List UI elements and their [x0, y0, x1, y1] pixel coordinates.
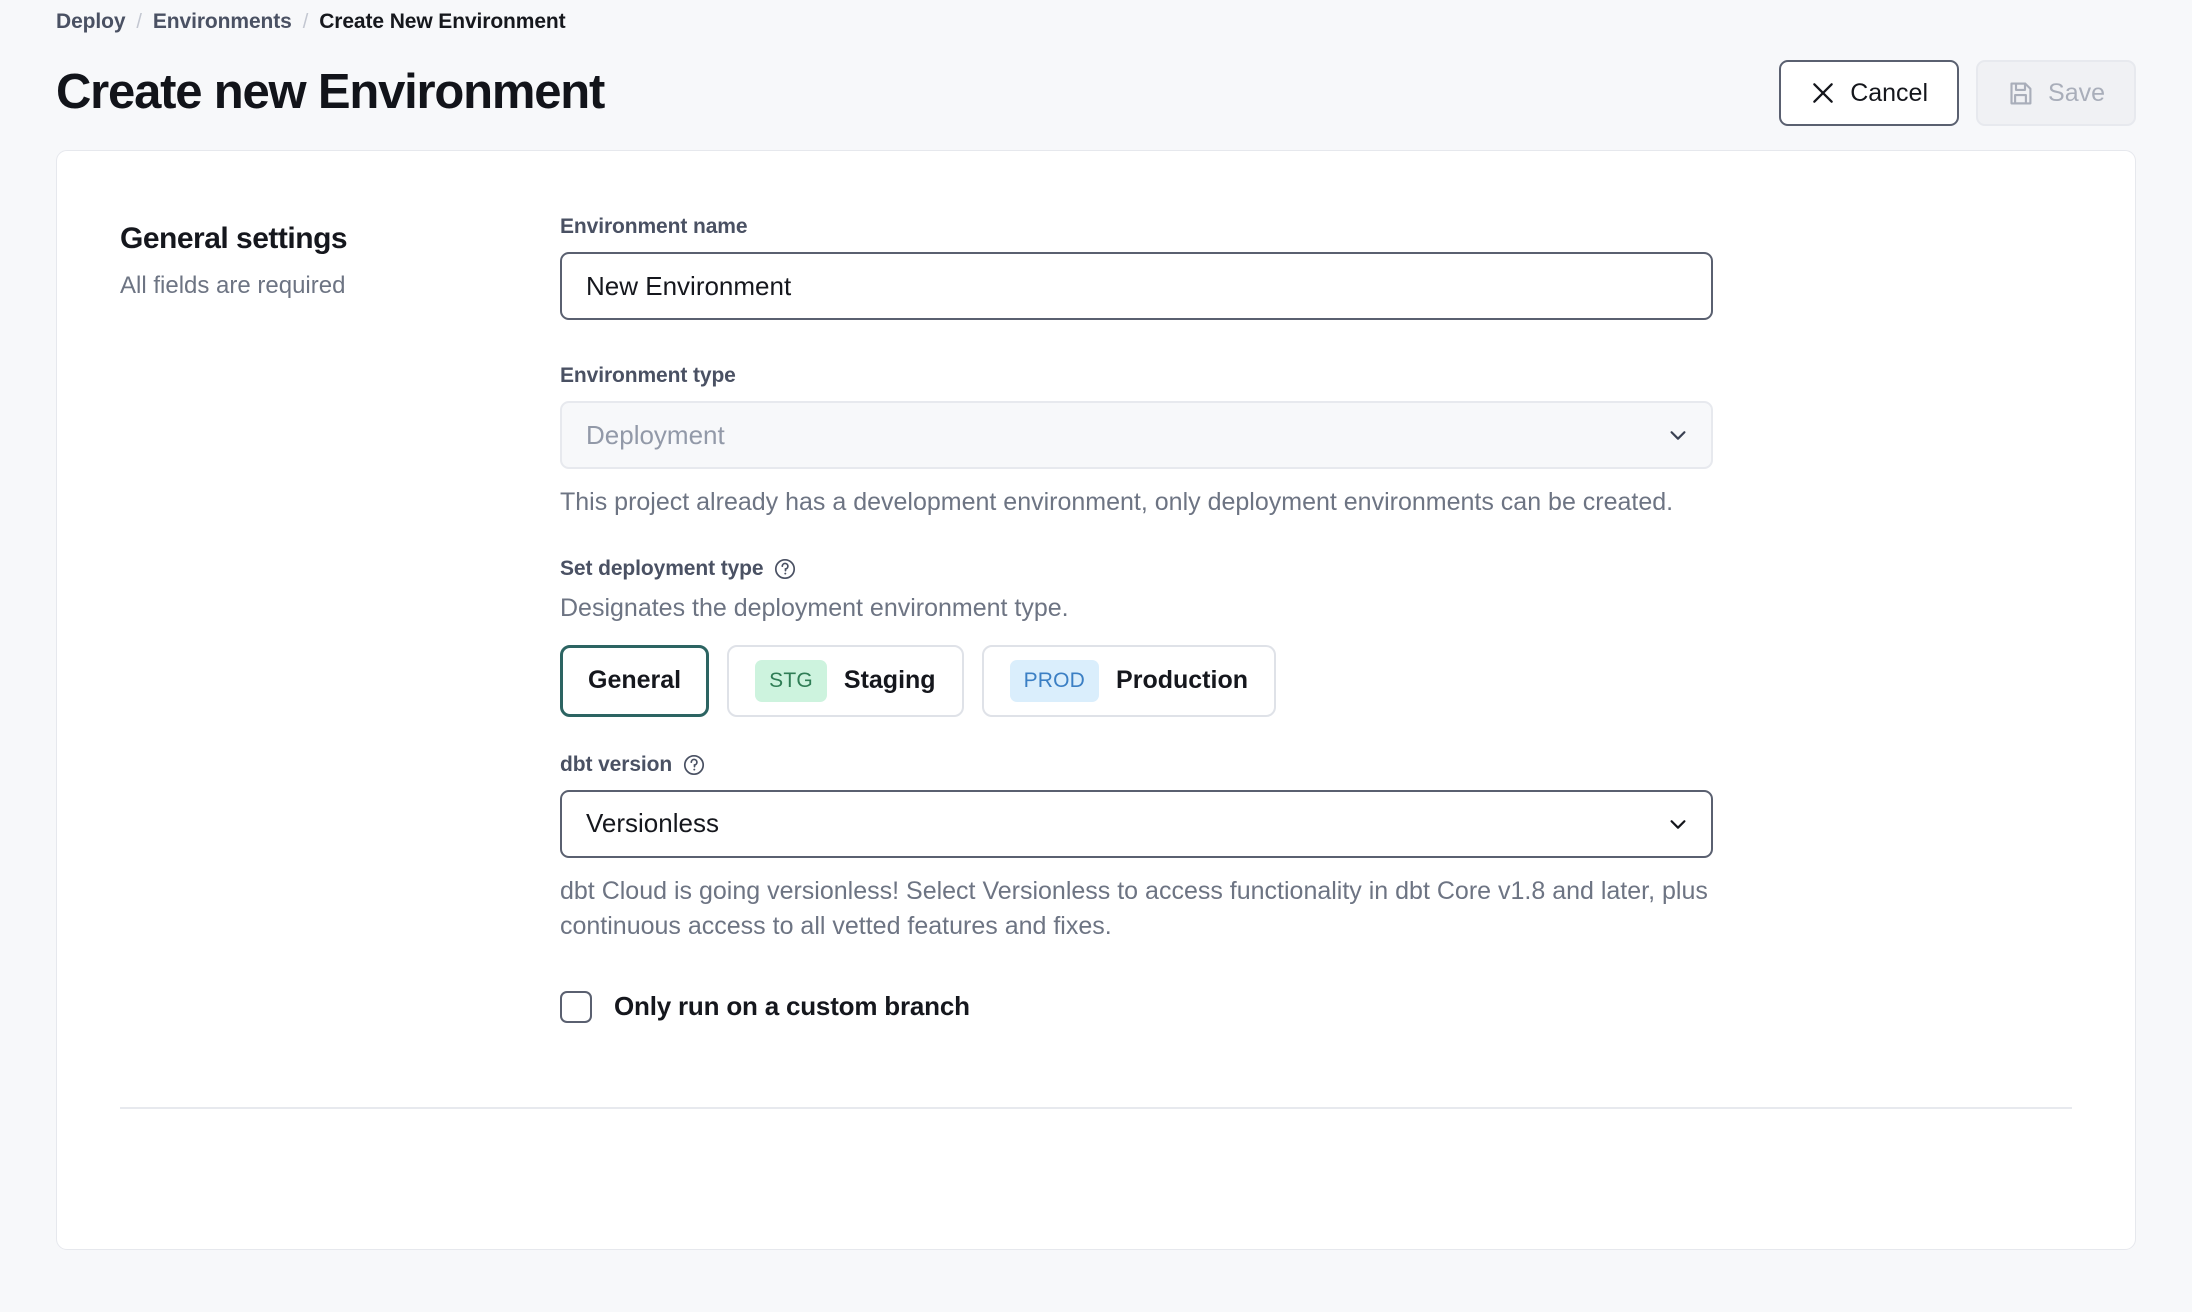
deployment-type-options: General STG Staging PROD Production — [560, 645, 1713, 717]
deployment-type-option-staging-label: Staging — [844, 666, 936, 695]
section-title: General settings — [120, 222, 560, 256]
deployment-type-description: Designates the deployment environment ty… — [560, 594, 1713, 623]
breadcrumb: Deploy / Environments / Create New Envir… — [56, 0, 2136, 34]
breadcrumb-item-current: Create New Environment — [319, 10, 565, 34]
dbt-version-value: Versionless — [586, 808, 719, 839]
general-settings-card: General settings All fields are required… — [56, 150, 2136, 1250]
custom-branch-checkbox[interactable] — [560, 991, 592, 1023]
deployment-type-option-staging[interactable]: STG Staging — [727, 645, 963, 717]
deployment-type-option-general[interactable]: General — [560, 645, 709, 717]
page-header: Deploy / Environments / Create New Envir… — [0, 0, 2192, 150]
environment-type-select[interactable]: Deployment — [560, 401, 1713, 469]
custom-branch-label: Only run on a custom branch — [614, 991, 970, 1022]
save-button[interactable]: Save — [1976, 60, 2136, 126]
cancel-button[interactable]: Cancel — [1779, 60, 1959, 126]
dbt-version-select[interactable]: Versionless — [560, 790, 1713, 858]
breadcrumb-item-environments[interactable]: Environments — [153, 10, 292, 34]
breadcrumb-item-deploy[interactable]: Deploy — [56, 10, 125, 34]
title-row: Create new Environment Cancel — [56, 34, 2136, 150]
custom-branch-row: Only run on a custom branch — [560, 991, 1713, 1023]
dbt-version-help-text: dbt Cloud is going versionless! Select V… — [560, 874, 1710, 945]
question-circle-icon[interactable] — [682, 753, 706, 777]
header-actions: Cancel Save — [1779, 60, 2136, 126]
section-subtitle: All fields are required — [120, 272, 560, 300]
dbt-version-field: dbt version Versionless — [560, 753, 1713, 945]
environment-type-label: Environment type — [560, 364, 1713, 388]
breadcrumb-separator: / — [303, 11, 308, 34]
environment-type-help-text: This project already has a development e… — [560, 485, 1710, 521]
breadcrumb-separator: / — [136, 11, 141, 34]
environment-type-value: Deployment — [586, 420, 725, 451]
save-button-label: Save — [2048, 79, 2105, 108]
close-icon — [1810, 80, 1836, 106]
staging-badge: STG — [755, 660, 827, 702]
settings-description-column: General settings All fields are required — [120, 215, 560, 1023]
environment-name-label: Environment name — [560, 215, 1713, 239]
question-circle-icon[interactable] — [773, 557, 797, 581]
environment-type-field: Environment type Deployment This project… — [560, 364, 1713, 521]
environment-name-field: Environment name — [560, 215, 1713, 320]
deployment-type-option-production[interactable]: PROD Production — [982, 645, 1276, 717]
cancel-button-label: Cancel — [1850, 79, 1928, 108]
deployment-type-option-production-label: Production — [1116, 666, 1248, 695]
deployment-type-option-general-label: General — [588, 666, 681, 695]
deployment-type-field: Set deployment type Designates the deplo… — [560, 557, 1713, 717]
environment-name-input[interactable] — [560, 252, 1713, 320]
section-divider — [120, 1107, 2072, 1109]
dbt-version-label: dbt version — [560, 753, 1713, 777]
dbt-version-select-wrap: Versionless — [560, 790, 1713, 858]
page-title: Create new Environment — [56, 67, 604, 119]
deployment-type-label-text: Set deployment type — [560, 557, 763, 581]
settings-form-column: Environment name Environment type Deploy… — [560, 215, 1713, 1023]
deployment-type-label: Set deployment type — [560, 557, 1713, 581]
dbt-version-label-text: dbt version — [560, 753, 672, 777]
production-badge: PROD — [1010, 660, 1099, 702]
save-disk-icon — [2007, 80, 2034, 107]
environment-type-select-wrap: Deployment — [560, 401, 1713, 469]
card-inner: General settings All fields are required… — [57, 151, 2135, 1023]
